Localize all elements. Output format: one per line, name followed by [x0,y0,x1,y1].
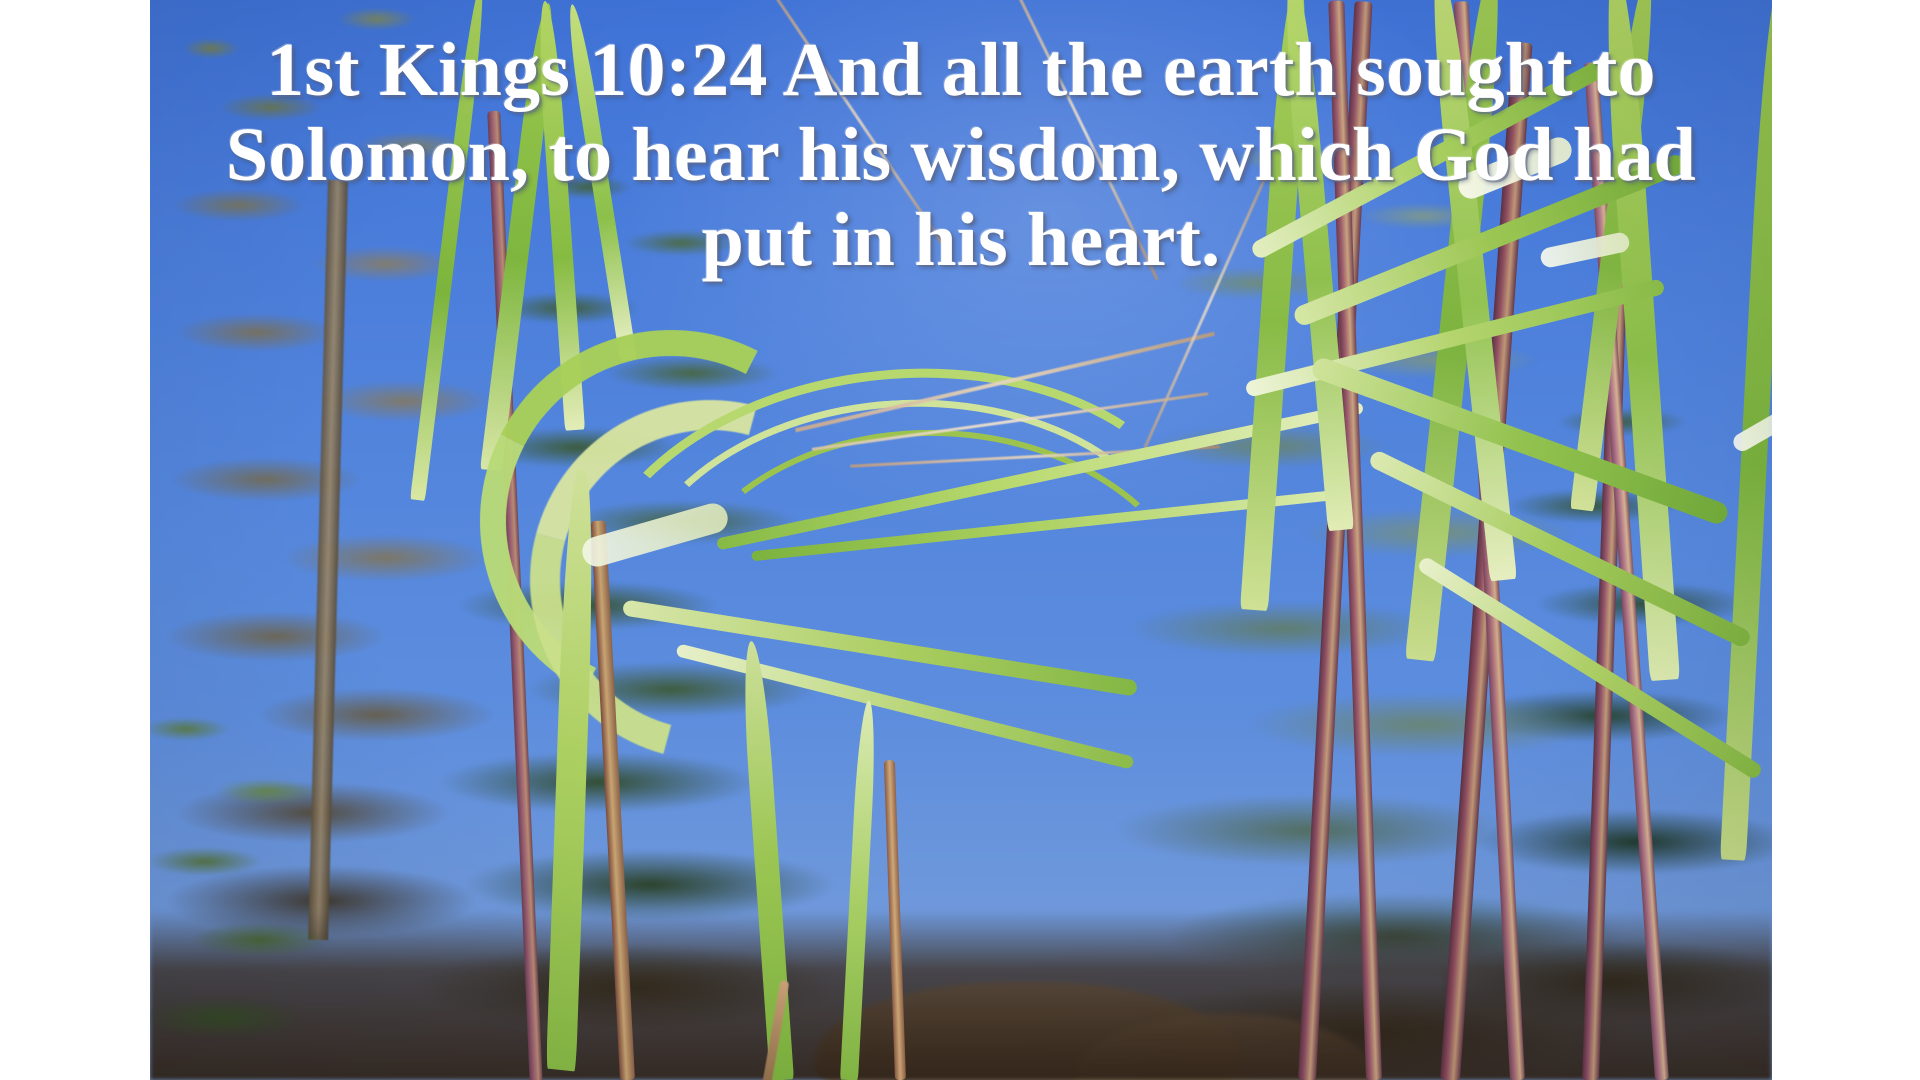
grass-blade-long [1310,355,1731,526]
verse-photograph [150,0,1772,1080]
dry-seed-strand [775,0,945,247]
left-white-margin [0,0,150,1080]
grass-layer [150,0,1772,1080]
screenshot-canvas: 1st Kings 10:24 And all the earth sought… [0,0,1920,1080]
low-foliage [150,690,370,1080]
dry-seed-strand [1011,0,1158,280]
right-white-margin [1772,0,1920,1080]
grass-blade [410,0,488,501]
